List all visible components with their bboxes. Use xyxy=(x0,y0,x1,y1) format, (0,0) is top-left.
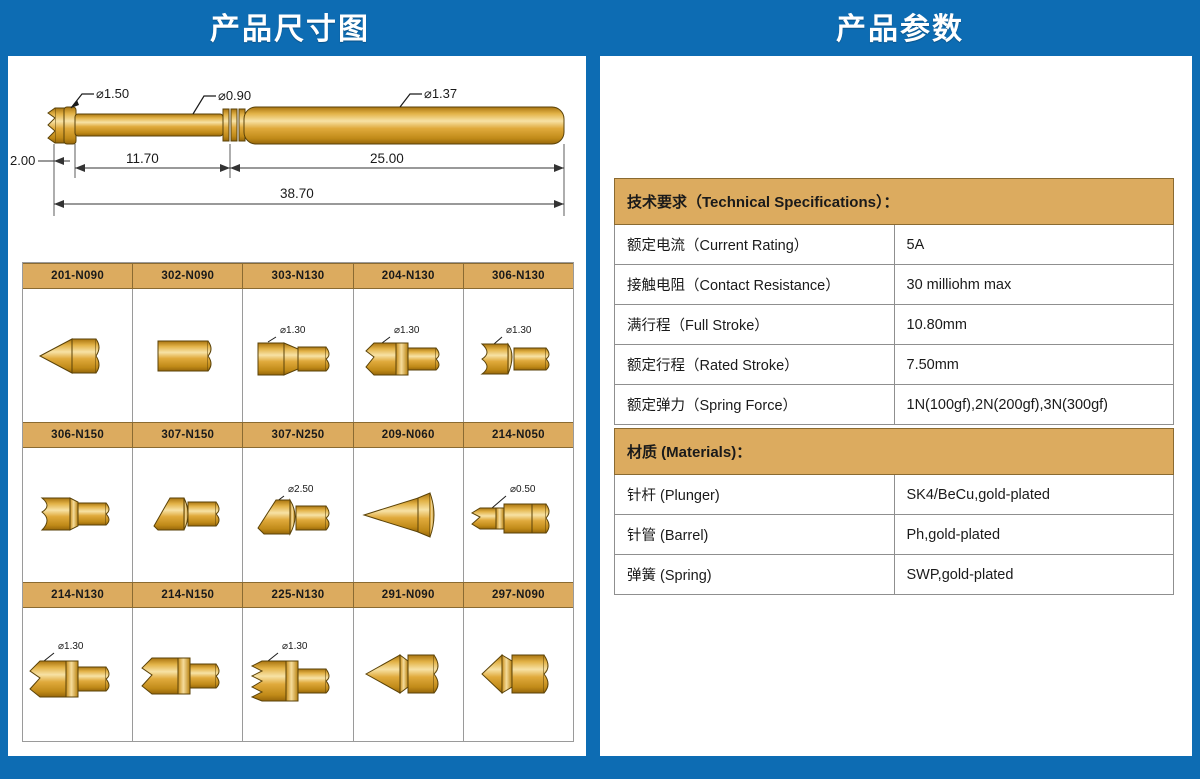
dim-plunger-length: 11.70 xyxy=(126,151,159,166)
variant-cell: ⌀1.30 xyxy=(354,289,464,422)
spec-table-header: 技术要求（Technical Specifications）： xyxy=(615,179,1174,225)
model-label: 302-N090 xyxy=(133,263,243,289)
spec-value: 5A xyxy=(894,225,1174,265)
table-row: 接触电阻（Contact Resistance） 30 milliohm max xyxy=(615,265,1174,305)
model-label: 306-N150 xyxy=(23,422,133,448)
dim-total-length-group: 38.70 xyxy=(54,186,564,208)
spec-key: 额定行程（Rated Stroke） xyxy=(615,345,895,385)
pogo-pin-dimension-drawing: ⌀1.50 ⌀0.90 ⌀1.37 2.00 xyxy=(8,56,586,236)
table-row: 弹簧 (Spring) SWP,gold-plated xyxy=(615,555,1174,595)
variant-cell: ⌀1.30 xyxy=(243,289,353,422)
material-value: Ph,gold-plated xyxy=(894,515,1174,555)
variant-cell xyxy=(133,289,243,422)
dim-barrel-length: 25.00 xyxy=(370,151,404,166)
dia-label: ⌀1.30 xyxy=(394,325,420,336)
grid-row: 306-N150 307-N150 307-N250 209-N060 214-… xyxy=(23,422,573,581)
model-label: 209-N060 xyxy=(354,422,464,448)
table-row: 额定行程（Rated Stroke） 7.50mm xyxy=(615,345,1174,385)
dim-plunger-diameter: ⌀0.90 xyxy=(218,88,251,103)
variant-cell xyxy=(354,448,464,581)
materials-title: 材质 (Materials)： xyxy=(615,429,1174,475)
pin-tip xyxy=(48,107,76,144)
grid-row: 214-N130 214-N150 225-N130 291-N090 297-… xyxy=(23,582,573,741)
material-key: 弹簧 (Spring) xyxy=(615,555,895,595)
material-value: SWP,gold-plated xyxy=(894,555,1174,595)
variant-cell xyxy=(464,608,573,741)
pin-collar xyxy=(223,109,245,141)
dia-label: ⌀1.30 xyxy=(58,641,84,652)
model-label: 291-N090 xyxy=(354,582,464,608)
model-label: 307-N150 xyxy=(133,422,243,448)
product-variant-grid: 201-N090 302-N090 303-N130 204-N130 306-… xyxy=(22,262,574,742)
spec-title: 技术要求（Technical Specifications）： xyxy=(615,179,1174,225)
dia-label: ⌀0.50 xyxy=(510,484,536,495)
spec-key: 接触电阻（Contact Resistance） xyxy=(615,265,895,305)
dia-label: ⌀1.30 xyxy=(282,641,308,652)
pin-plunger xyxy=(75,114,223,136)
spec-value: 10.80mm xyxy=(894,305,1174,345)
variant-cell: ⌀1.30 xyxy=(464,289,573,422)
dia-label: ⌀1.30 xyxy=(506,325,532,336)
table-row: 针管 (Barrel) Ph,gold-plated xyxy=(615,515,1174,555)
model-label: 297-N090 xyxy=(464,582,573,608)
dim-tip-length: 2.00 xyxy=(10,153,35,168)
spec-value: 30 milliohm max xyxy=(894,265,1174,305)
dimension-drawing-panel: ⌀1.50 ⌀0.90 ⌀1.37 2.00 xyxy=(8,56,586,756)
variant-cell xyxy=(133,448,243,581)
leader-barrel-dia xyxy=(400,94,422,107)
model-label: 214-N130 xyxy=(23,582,133,608)
model-label: 201-N090 xyxy=(23,263,133,289)
dim-barrel-diameter: ⌀1.37 xyxy=(424,86,457,101)
model-label: 307-N250 xyxy=(243,422,353,448)
variant-cell xyxy=(23,289,133,422)
pin-barrel xyxy=(244,107,564,144)
model-label: 214-N050 xyxy=(464,422,573,448)
materials-table-header: 材质 (Materials)： xyxy=(615,429,1174,475)
dim-tip-diameter: ⌀1.50 xyxy=(96,86,129,101)
variant-cell xyxy=(354,608,464,741)
left-panel-title: 产品尺寸图 xyxy=(0,0,580,52)
table-row: 针杆 (Plunger) SK4/BeCu,gold-plated xyxy=(615,475,1174,515)
model-label: 225-N130 xyxy=(243,582,353,608)
dim-plunger-length-group: 11.70 xyxy=(75,151,230,172)
material-key: 针管 (Barrel) xyxy=(615,515,895,555)
spec-value: 7.50mm xyxy=(894,345,1174,385)
product-spec-page: 产品尺寸图 产品参数 xyxy=(0,0,1200,779)
materials-table: 材质 (Materials)： 针杆 (Plunger) SK4/BeCu,go… xyxy=(614,428,1174,595)
table-row: 额定电流（Current Rating） 5A xyxy=(615,225,1174,265)
spec-key: 额定电流（Current Rating） xyxy=(615,225,895,265)
model-label: 306-N130 xyxy=(464,263,573,289)
dia-label: ⌀2.50 xyxy=(288,484,314,495)
table-row: 额定弹力（Spring Force） 1N(100gf),2N(200gf),3… xyxy=(615,385,1174,425)
spec-value: 1N(100gf),2N(200gf),3N(300gf) xyxy=(894,385,1174,425)
dim-total-length: 38.70 xyxy=(280,186,314,201)
variant-cell: ⌀2.50 xyxy=(243,448,353,581)
model-label: 204-N130 xyxy=(354,263,464,289)
table-row: 满行程（Full Stroke） 10.80mm xyxy=(615,305,1174,345)
variant-cell: ⌀1.30 xyxy=(243,608,353,741)
grid-row: 201-N090 302-N090 303-N130 204-N130 306-… xyxy=(23,263,573,422)
variant-cell xyxy=(23,448,133,581)
model-label: 214-N150 xyxy=(133,582,243,608)
technical-specifications-table: 技术要求（Technical Specifications）： 额定电流（Cur… xyxy=(614,178,1174,425)
spec-key: 满行程（Full Stroke） xyxy=(615,305,895,345)
product-parameters-panel: 技术要求（Technical Specifications）： 额定电流（Cur… xyxy=(600,56,1192,756)
leader-plunger-dia xyxy=(193,96,216,114)
dia-label: ⌀1.30 xyxy=(280,325,306,336)
dim-barrel-length-group: 25.00 xyxy=(230,151,564,172)
dim-tip-length-group: 2.00 xyxy=(10,153,70,168)
model-label: 303-N130 xyxy=(243,263,353,289)
variant-cell xyxy=(133,608,243,741)
right-panel-title: 产品参数 xyxy=(600,0,1200,52)
material-key: 针杆 (Plunger) xyxy=(615,475,895,515)
spec-key: 额定弹力（Spring Force） xyxy=(615,385,895,425)
material-value: SK4/BeCu,gold-plated xyxy=(894,475,1174,515)
variant-cell: ⌀1.30 xyxy=(23,608,133,741)
variant-cell: ⌀0.50 xyxy=(464,448,573,581)
